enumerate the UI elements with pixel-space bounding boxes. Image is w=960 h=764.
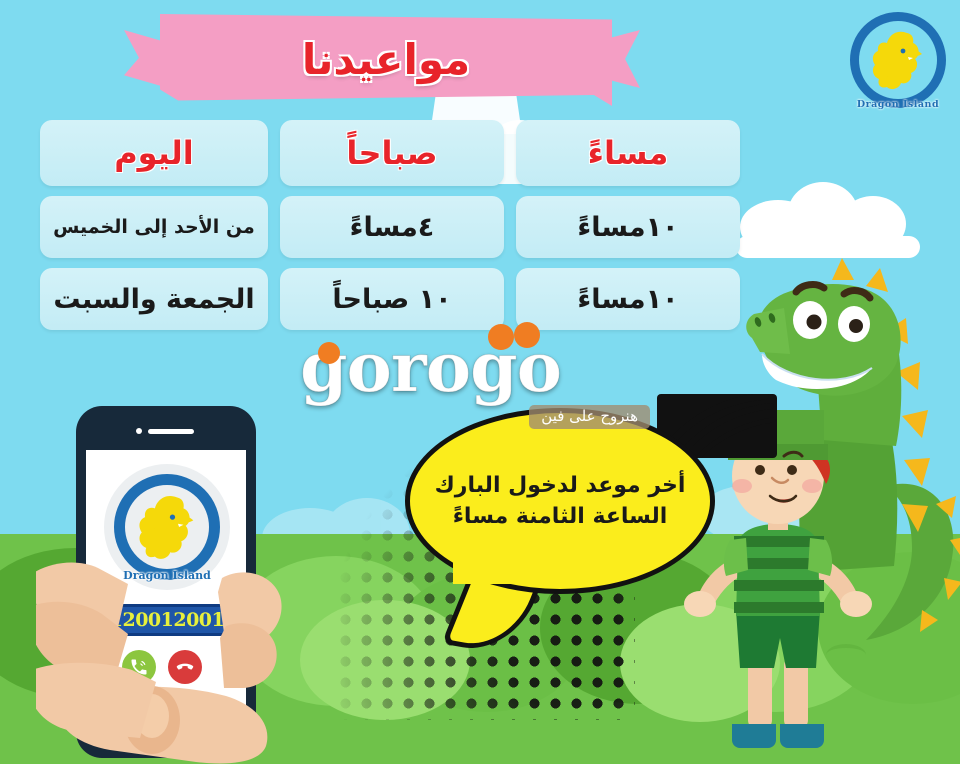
cell-day: الجمعة والسبت: [40, 268, 268, 330]
schedule-table: اليوم صباحاً مساءً من الأحد إلى الخميس ٤…: [40, 120, 740, 330]
table-row: من الأحد إلى الخميس ٤مساءً ١٠مساءً: [40, 196, 740, 258]
notice-text: أخر موعد لدخول البارك الساعة الثامنة مسا…: [413, 470, 708, 532]
earpiece-icon: [148, 429, 194, 434]
title-ribbon: مواعيدنا: [160, 14, 612, 106]
logo-brand-name: Dragon Island: [846, 99, 950, 110]
cell-day: من الأحد إلى الخميس: [40, 196, 268, 258]
notice-speech-bubble: أخر موعد لدخول البارك الساعة الثامنة مسا…: [405, 408, 715, 594]
cell-evening: ١٠مساءً: [516, 268, 740, 330]
page-title: مواعيدنا: [302, 39, 470, 81]
table-header-row: اليوم صباحاً مساءً: [40, 120, 740, 186]
front-camera-icon: [136, 428, 142, 434]
column-header-evening: مساءً: [516, 120, 740, 186]
bubble-body: أخر موعد لدخول البارك الساعة الثامنة مسا…: [405, 408, 715, 594]
poster-canvas: مواعيدنا Dragon Island اليوم صباحاً م: [0, 0, 960, 764]
cell-evening: ١٠مساءً: [516, 196, 740, 258]
cell-morning: ٤مساءً: [280, 196, 504, 258]
table-row: الجمعة والسبت ١٠ صباحاً ١٠مساءً: [40, 268, 740, 330]
brand-logo: Dragon Island: [846, 8, 950, 112]
dragon-head-icon: [846, 8, 950, 112]
hand-holding-phone-icon: [36, 458, 286, 764]
bubble-tail-joint: [453, 558, 539, 584]
column-header-day: اليوم: [40, 120, 268, 186]
column-header-morning: صباحاً: [280, 120, 504, 186]
cell-morning: ١٠ صباحاً: [280, 268, 504, 330]
